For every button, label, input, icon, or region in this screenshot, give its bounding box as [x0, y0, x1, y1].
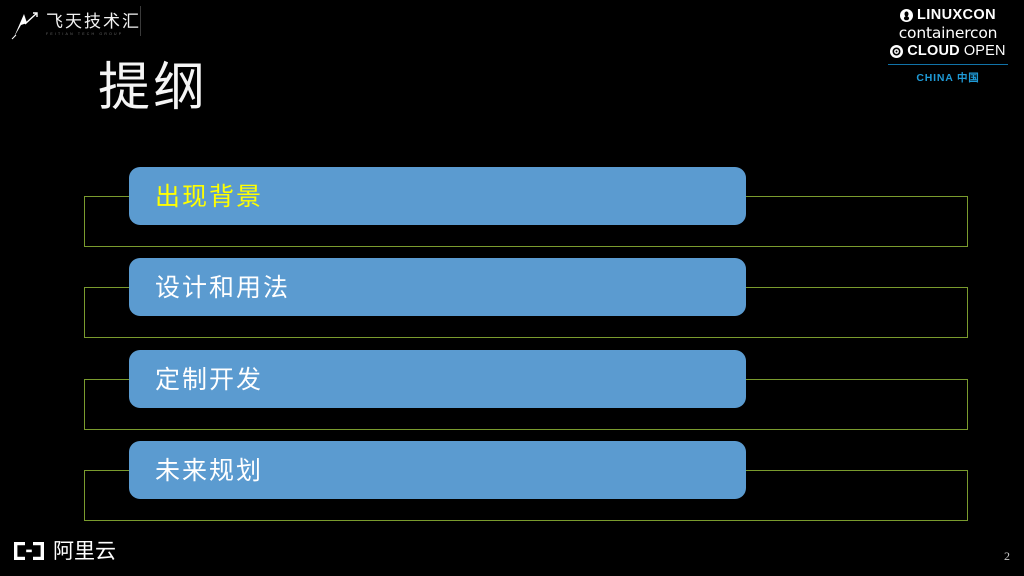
outline-item-label: 未来规划	[155, 458, 263, 483]
outline-item-1[interactable]: 出现背景	[0, 167, 1024, 259]
alibaba-cloud-icon	[12, 540, 46, 562]
outline-list: 出现背景 设计和用法 定制开发 未来规划	[0, 0, 1024, 576]
outline-item-3[interactable]: 定制开发	[0, 350, 1024, 442]
slide-canvas: 飞天技术汇 FEITIAN TECH GROUP LINUXCON contai…	[0, 0, 1024, 576]
outline-item-label: 出现背景	[155, 184, 263, 209]
outline-bar[interactable]: 设计和用法	[129, 258, 746, 316]
outline-bar[interactable]: 定制开发	[129, 350, 746, 408]
outline-item-4[interactable]: 未来规划	[0, 441, 1024, 533]
outline-item-label: 设计和用法	[155, 275, 290, 300]
outline-bar[interactable]: 未来规划	[129, 441, 746, 499]
outline-bar[interactable]: 出现背景	[129, 167, 746, 225]
outline-item-2[interactable]: 设计和用法	[0, 258, 1024, 350]
page-number: 2	[1004, 549, 1010, 564]
footer-logo: 阿里云	[12, 540, 116, 562]
outline-item-label: 定制开发	[155, 367, 263, 392]
footer-logo-label: 阿里云	[53, 541, 116, 562]
